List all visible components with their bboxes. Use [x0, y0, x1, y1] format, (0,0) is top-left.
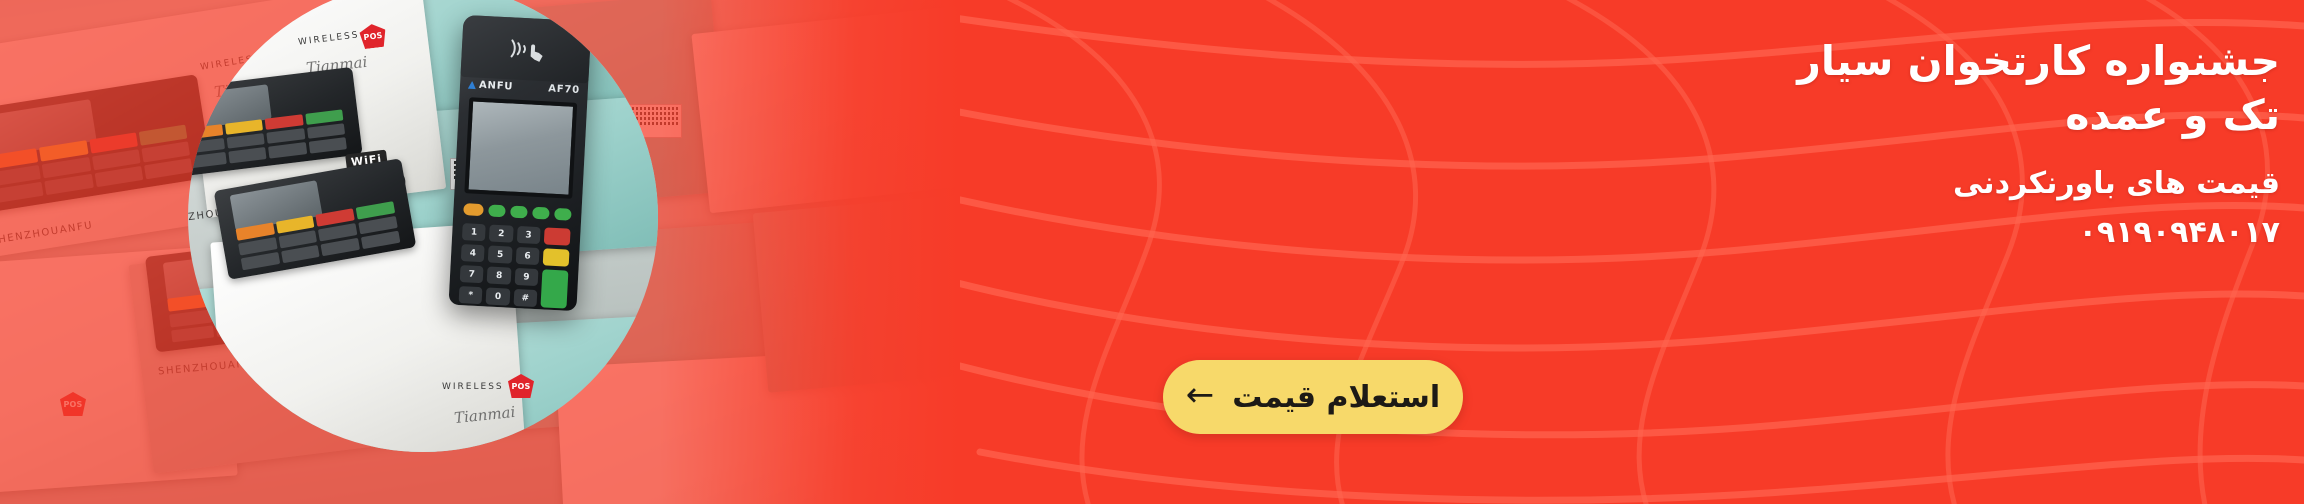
- headline-line-2: تک و عمده: [1720, 88, 2280, 142]
- hero-pos-terminal: ANFU AF70 123 456 789 *0#: [448, 15, 591, 311]
- key-6: 6: [515, 247, 539, 265]
- contactless-payment-icon: [503, 35, 548, 63]
- contact-phone-number: ۰۹۱۹۰۹۴۸۰۱۷: [1720, 215, 2280, 250]
- key-0: 0: [486, 287, 510, 305]
- price-inquiry-label: استعلام قیمت: [1232, 380, 1440, 415]
- key-2: 2: [489, 225, 513, 243]
- price-inquiry-button[interactable]: استعلام قیمت ←: [1163, 360, 1463, 434]
- key-4: 4: [461, 244, 485, 262]
- key-star: *: [459, 286, 483, 304]
- contactless-reader-area: [460, 15, 591, 84]
- clear-key: [543, 248, 570, 266]
- carton-wireless-label: WIRELESS: [442, 382, 504, 392]
- enter-key: [540, 269, 568, 308]
- key-7: 7: [460, 265, 484, 283]
- anfu-logo-icon: [468, 81, 476, 89]
- promo-subheading: قیمت های باورنکردنی: [1720, 164, 2280, 205]
- product-photo-circle: WIRELESS POS Tianmai WiFi AF70 SHENZHOUA…: [188, 0, 658, 452]
- cancel-key: [544, 227, 571, 245]
- hero-device-keypad: 123 456 789 *0#: [459, 223, 571, 309]
- hero-device-model: AF70: [548, 83, 580, 96]
- key-hash: #: [513, 289, 537, 307]
- promo-banner: WIRELESS POS Tianmai WiFi AF70 SHENZHOUA…: [0, 0, 2304, 504]
- arrow-left-icon: ←: [1186, 378, 1215, 412]
- page-title: جشنواره کارتخوان سیار تک و عمده: [1720, 34, 2280, 142]
- key-9: 9: [514, 268, 538, 286]
- hero-device-brand: ANFU: [468, 79, 514, 92]
- key-8: 8: [487, 266, 511, 284]
- hero-device-screen: [464, 97, 577, 199]
- headline-line-1: جشنواره کارتخوان سیار: [1797, 37, 2280, 85]
- key-5: 5: [488, 245, 512, 263]
- key-3: 3: [516, 226, 540, 244]
- promo-copy: جشنواره کارتخوان سیار تک و عمده قیمت های…: [1720, 34, 2280, 250]
- key-1: 1: [462, 223, 486, 241]
